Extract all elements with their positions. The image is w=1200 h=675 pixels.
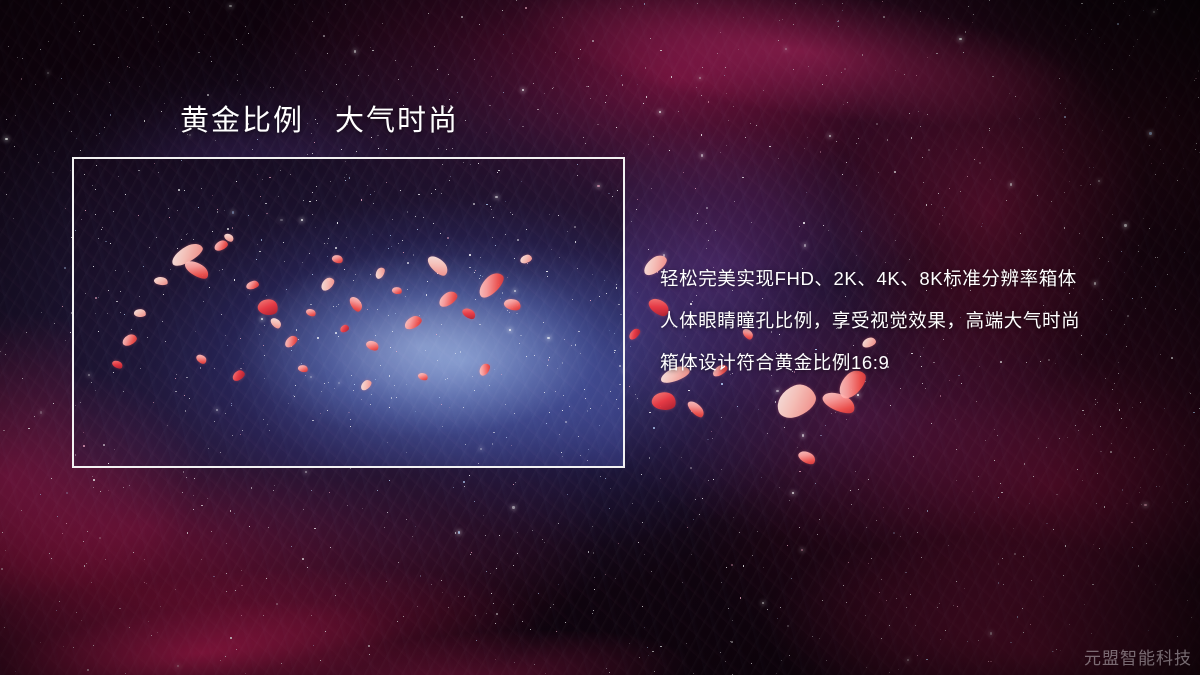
body-line-2: 人体眼睛瞳孔比例，享受视觉效果，高端大气时尚 (660, 300, 1160, 342)
petal (772, 380, 820, 423)
framed-photo (72, 157, 625, 468)
body-text-block: 轻松完美实现FHD、2K、4K、8K标准分辨率箱体 人体眼睛瞳孔比例，享受视觉效… (660, 258, 1160, 384)
framed-photo-inner (74, 159, 623, 466)
petal (686, 398, 707, 420)
petal (796, 448, 817, 467)
slide-canvas: 黄金比例 大气时尚 轻松完美实现FHD、2K、4K、8K标准分辨率箱体 人体眼睛… (0, 0, 1200, 675)
framed-nebula-dust (74, 159, 623, 466)
body-line-1: 轻松完美实现FHD、2K、4K、8K标准分辨率箱体 (660, 258, 1160, 300)
petal (627, 327, 642, 341)
petal (820, 387, 858, 417)
page-title: 黄金比例 大气时尚 (180, 103, 459, 139)
petal (650, 390, 677, 413)
body-line-3: 箱体设计符合黄金比例16:9 (660, 342, 1160, 384)
watermark: 元盟智能科技 (1084, 644, 1192, 669)
